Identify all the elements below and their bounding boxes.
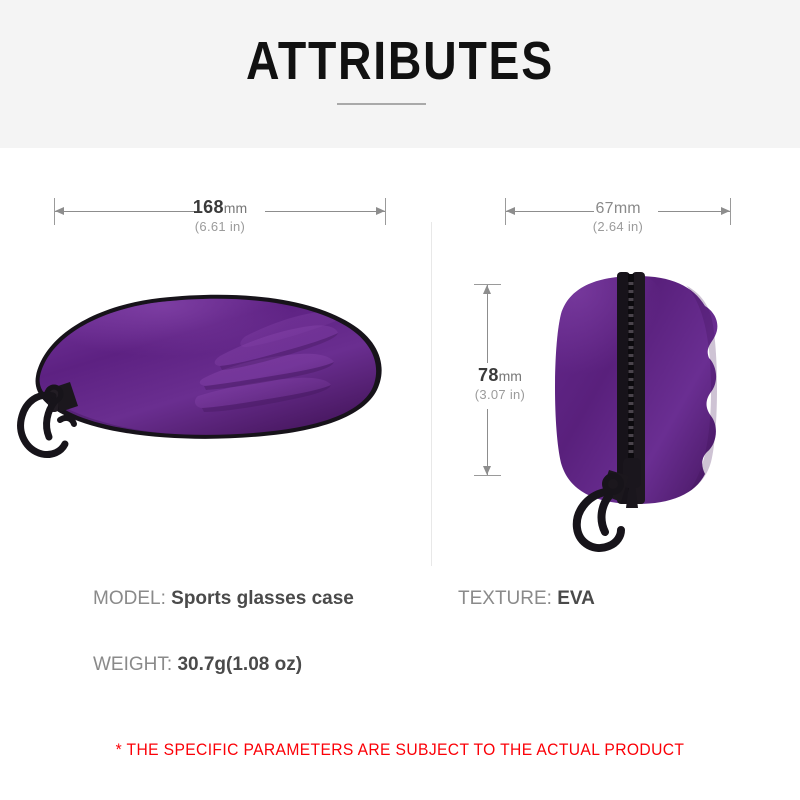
header-band: ATTRIBUTES <box>0 0 800 148</box>
arrowhead-right-icon <box>376 207 385 215</box>
width-value-right: 67 <box>595 200 613 217</box>
spec-row-model: MODEL: Sports glasses case <box>93 587 354 611</box>
dimension-cap-right <box>730 198 731 225</box>
sunglasses-case-side-view-image <box>8 270 408 470</box>
width-imperial-right: (2.64 in) <box>558 218 678 236</box>
title-underline-divider <box>337 103 426 105</box>
spec-value-texture: EVA <box>557 588 595 609</box>
panel-divider <box>431 222 432 566</box>
sunglasses-case-front-view-image <box>525 262 745 552</box>
spec-row-weight: WEIGHT: 30.7g(1.08 oz) <box>93 653 302 677</box>
dimension-line-segment-top <box>487 285 488 363</box>
attributes-infographic: ATTRIBUTES 168mm (6.61 in) <box>0 0 800 800</box>
spec-label-texture: TEXTURE: <box>458 588 552 609</box>
width-unit-right: mm <box>614 200 641 217</box>
disclaimer-note: * THE SPECIFIC PARAMETERS ARE SUBJECT TO… <box>32 740 768 760</box>
width-value-left: 168 <box>193 197 224 217</box>
arrowhead-up-icon <box>483 285 491 294</box>
dimension-cap-bottom <box>474 475 501 476</box>
height-unit-right: mm <box>499 368 522 384</box>
width-imperial-left: (6.61 in) <box>150 218 290 236</box>
dimension-label-width-left: 168mm (6.61 in) <box>150 198 290 236</box>
width-unit-left: mm <box>224 200 247 216</box>
arrowhead-down-icon <box>483 466 491 475</box>
dimension-cap-right <box>385 198 386 225</box>
arrowhead-right-icon <box>721 207 730 215</box>
arrowhead-left-icon <box>506 207 515 215</box>
spec-row-texture: TEXTURE: EVA <box>458 587 595 611</box>
spec-list: MODEL: Sports glasses case TEXTURE: EVA … <box>0 575 800 690</box>
spec-value-model: Sports glasses case <box>171 588 354 609</box>
height-value-right: 78 <box>478 365 499 385</box>
spec-label-weight: WEIGHT: <box>93 654 172 675</box>
spec-label-model: MODEL: <box>93 588 166 609</box>
page-title: ATTRIBUTES <box>56 30 744 92</box>
spec-value-weight: 30.7g(1.08 oz) <box>177 654 302 675</box>
dimension-label-width-right: 67mm (2.64 in) <box>558 199 678 236</box>
arrowhead-left-icon <box>55 207 64 215</box>
